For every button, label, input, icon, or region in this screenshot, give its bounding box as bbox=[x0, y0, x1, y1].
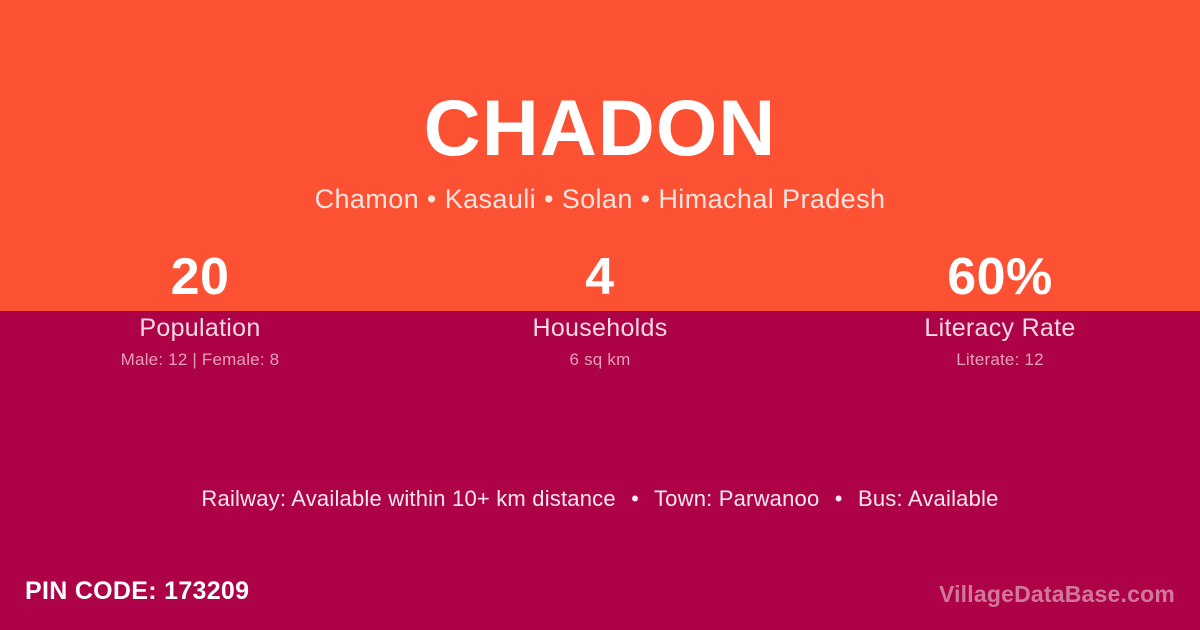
stat-literacy-rate-value: 60% bbox=[800, 243, 1200, 311]
stat-households-sub: 6 sq km bbox=[400, 349, 800, 371]
page-title: CHADON bbox=[0, 80, 1200, 175]
stat-population-label: Population bbox=[0, 311, 400, 345]
transport-separator-1: • bbox=[622, 486, 648, 511]
transport-town: Town: Parwanoo bbox=[654, 486, 819, 511]
site-watermark: VillageDataBase.com bbox=[939, 580, 1175, 609]
stat-population-value: 20 bbox=[0, 243, 400, 311]
breadcrumb: Chamon • Kasauli • Solan • Himachal Prad… bbox=[0, 183, 1200, 216]
village-info-card: CHADON Chamon • Kasauli • Solan • Himach… bbox=[0, 0, 1200, 630]
stat-literacy-rate-label: Literacy Rate bbox=[800, 311, 1200, 345]
transport-info: Railway: Available within 10+ km distanc… bbox=[0, 484, 1200, 514]
pin-code: PIN CODE: 173209 bbox=[25, 575, 249, 607]
transport-separator-2: • bbox=[826, 486, 852, 511]
stat-literacy-rate: 60% Literacy Rate Literate: 12 bbox=[800, 243, 1200, 371]
stat-population: 20 Population Male: 12 | Female: 8 bbox=[0, 243, 400, 371]
transport-railway: Railway: Available within 10+ km distanc… bbox=[201, 486, 615, 511]
stat-households: 4 Households 6 sq km bbox=[400, 243, 800, 371]
stat-households-value: 4 bbox=[400, 243, 800, 311]
transport-bus: Bus: Available bbox=[858, 486, 999, 511]
stat-literacy-rate-sub: Literate: 12 bbox=[800, 349, 1200, 371]
stat-population-sub: Male: 12 | Female: 8 bbox=[0, 349, 400, 371]
stat-households-label: Households bbox=[400, 311, 800, 345]
stats-row: 20 Population Male: 12 | Female: 8 4 Hou… bbox=[0, 243, 1200, 371]
